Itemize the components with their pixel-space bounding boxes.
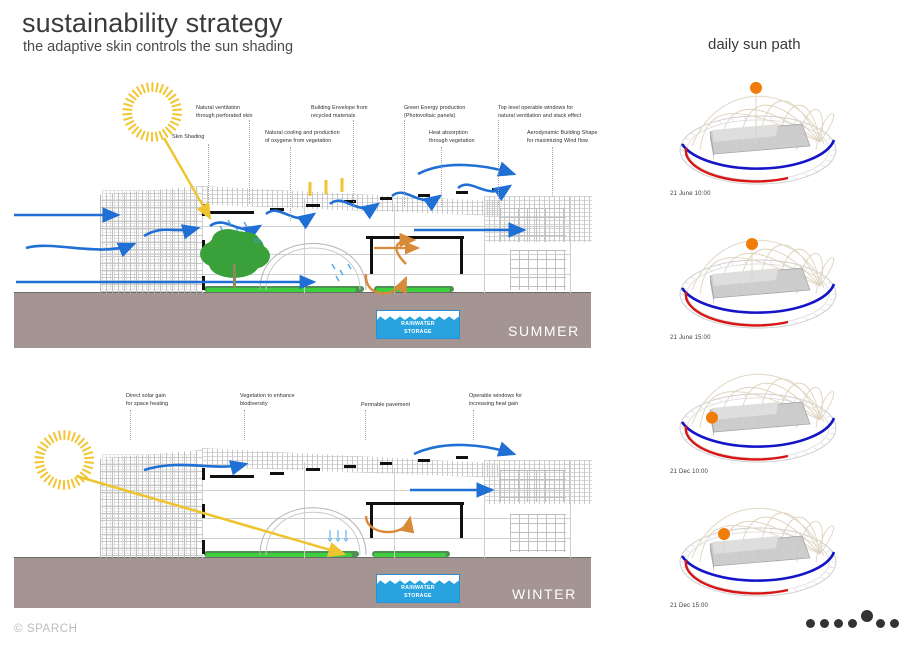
sunpath-panel-label: 21 Dec 10:00	[670, 469, 708, 475]
footer-dot[interactable]	[876, 619, 885, 628]
winter-section-diagram: RAINWATER STORAGE WINTER	[14, 418, 619, 608]
sunpath-panel-label: 21 Dec 15:00	[670, 603, 708, 609]
annotation-leader-line	[130, 410, 131, 440]
annotation-label: Operable windows forincreasing heat gain	[469, 392, 522, 409]
annotation-label: Top level operable windows fornatural ve…	[498, 104, 581, 121]
footer-dot[interactable]	[890, 619, 899, 628]
annotation-leader-line	[353, 120, 354, 206]
footer-dot[interactable]	[834, 619, 843, 628]
page-subtitle: the adaptive skin controls the sun shadi…	[23, 39, 293, 55]
summer-oxygen-label: O₂	[254, 238, 263, 245]
sunpath-panel-label: 21 June 10:00	[670, 191, 711, 197]
annotation-label: Permable pavement	[361, 401, 410, 409]
annotation-leader-line	[244, 410, 245, 440]
winter-season-label: WINTER	[512, 586, 577, 602]
annotation-label: Natural ventilationthrough perforated sk…	[196, 104, 253, 121]
annotation-label: Vegetation to enhancebiodiversity	[240, 392, 295, 409]
winter-flow-overlay	[14, 418, 619, 608]
page-title: sustainability strategy	[22, 8, 282, 39]
summer-rainwater-storage-box: RAINWATER STORAGE	[376, 310, 460, 339]
annotation-leader-line	[473, 410, 474, 440]
annotation-leader-line	[498, 120, 499, 205]
annotation-leader-line	[441, 147, 442, 207]
annotation-label: Aerodynamic Building Shapefor maximizing…	[527, 129, 598, 146]
winter-rainwater-waterline	[377, 575, 459, 584]
sunpath-section-title: daily sun path	[708, 36, 801, 53]
annotation-leader-line	[249, 120, 250, 204]
annotation-leader-line	[404, 120, 405, 206]
annotation-leader-line	[208, 144, 209, 202]
annotation-leader-line	[552, 147, 553, 197]
annotation-label: Building Envelope fromrecycled materials	[311, 104, 368, 121]
sunpath-panel: 21 June 15:00	[668, 222, 868, 347]
sunpath-panel: 21 June 10:00	[668, 78, 868, 203]
summer-rainwater-waterline	[377, 311, 459, 320]
sunpath-panel-label: 21 June 15:00	[670, 335, 711, 341]
summer-season-label: SUMMER	[508, 323, 580, 339]
footer-dot[interactable]	[806, 619, 815, 628]
summer-rainwater-label: RAINWATER STORAGE	[377, 321, 459, 336]
annotation-leader-line	[290, 147, 291, 221]
winter-rainwater-storage-box: RAINWATER STORAGE	[376, 574, 460, 603]
annotation-label: Heat absorptionthrough vegetation	[429, 129, 475, 146]
footer-dot[interactable]	[820, 619, 829, 628]
annotation-label: Green Energy production(Photovoltaic pan…	[404, 104, 465, 121]
annotation-label: Natural cooling and productionof oxygene…	[265, 129, 340, 146]
footer-page-dots[interactable]	[805, 606, 905, 630]
sunpath-panel: 21 Dec 15:00	[668, 490, 868, 615]
footer-dot[interactable]	[848, 619, 857, 628]
copyright-notice: © SPARCH	[14, 623, 78, 635]
annotation-label: Skin Shading	[172, 133, 204, 141]
annotation-label: Direct solar gainfor space heating	[126, 392, 168, 409]
footer-dot[interactable]	[861, 610, 873, 622]
sunpath-panel: 21 Dec 10:00	[668, 356, 868, 481]
winter-rainwater-label: RAINWATER STORAGE	[377, 585, 459, 600]
annotation-leader-line	[365, 410, 366, 440]
